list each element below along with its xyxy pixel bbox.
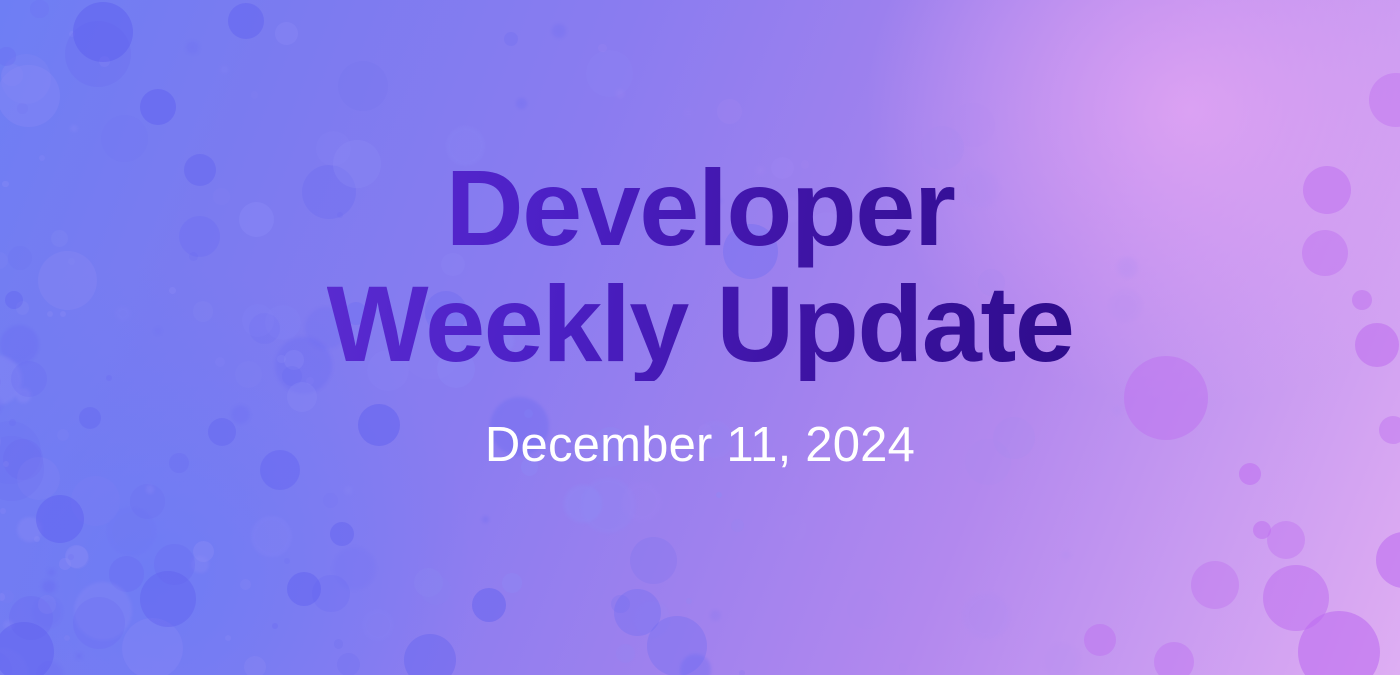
- bokeh-circle: [716, 492, 722, 498]
- bokeh-circle: [0, 590, 14, 604]
- bokeh-circle: [73, 2, 133, 62]
- bokeh-circle: [598, 44, 606, 52]
- bokeh-circle: [74, 582, 132, 640]
- bokeh-circle: [1044, 643, 1081, 675]
- bokeh-circle: [69, 31, 75, 37]
- bokeh-circle: [717, 99, 742, 124]
- issue-date: December 11, 2024: [485, 419, 915, 473]
- bokeh-circle: [312, 575, 350, 613]
- bokeh-circle: [109, 556, 145, 592]
- bokeh-circle: [70, 125, 78, 133]
- bokeh-circle: [686, 598, 692, 604]
- banner-content: Developer Weekly Update December 11, 202…: [0, 150, 1400, 473]
- bokeh-circle: [130, 484, 165, 519]
- bokeh-circle: [330, 522, 354, 546]
- bokeh-circle: [564, 485, 602, 523]
- bokeh-circle: [0, 593, 5, 600]
- bokeh-circle: [3, 620, 13, 630]
- bokeh-circle: [337, 653, 360, 675]
- bokeh-circle: [36, 661, 63, 675]
- bokeh-circle: [0, 622, 54, 675]
- bokeh-circle: [684, 108, 694, 118]
- bokeh-circle: [516, 98, 527, 109]
- bokeh-circle: [1263, 565, 1329, 631]
- bokeh-circle: [404, 634, 456, 675]
- bokeh-circle: [146, 485, 155, 494]
- bokeh-circle: [38, 595, 57, 614]
- bokeh-circle: [99, 56, 111, 68]
- bokeh-circle: [76, 653, 82, 659]
- bokeh-circle: [225, 635, 231, 641]
- bokeh-circle: [1376, 532, 1400, 588]
- bokeh-circle: [240, 579, 250, 589]
- bokeh-circle: [1253, 521, 1271, 539]
- bokeh-circle: [9, 596, 53, 640]
- bokeh-circle: [344, 486, 353, 495]
- bokeh-circle: [779, 515, 807, 543]
- bokeh-circle: [362, 609, 393, 640]
- bokeh-circle: [251, 516, 292, 557]
- bokeh-circle: [1191, 561, 1239, 609]
- bokeh-circle: [66, 546, 88, 568]
- bokeh-circle: [220, 65, 229, 74]
- bokeh-circle: [272, 623, 278, 629]
- bokeh-circle: [616, 644, 635, 663]
- bokeh-circle: [482, 516, 489, 523]
- bokeh-circle: [472, 588, 506, 622]
- bokeh-circle: [64, 635, 70, 641]
- bokeh-circle: [963, 593, 1010, 640]
- bokeh-circle: [191, 556, 209, 574]
- bokeh-circle: [323, 493, 338, 508]
- bokeh-circle: [502, 573, 522, 593]
- bokeh-circle: [275, 22, 298, 45]
- bokeh-circle: [48, 569, 55, 576]
- bokeh-circle: [0, 651, 12, 675]
- bokeh-circle: [731, 519, 744, 532]
- bokeh-circle: [186, 41, 199, 54]
- bokeh-circle: [552, 24, 567, 39]
- bokeh-circle: [59, 558, 71, 570]
- bokeh-circle: [71, 476, 120, 525]
- bokeh-circle: [73, 597, 125, 649]
- page-title: Developer Weekly Update: [327, 150, 1074, 381]
- bokeh-circle: [1298, 611, 1380, 675]
- bokeh-circle: [1154, 642, 1194, 675]
- bokeh-circle: [33, 597, 62, 626]
- bokeh-circle: [228, 3, 264, 39]
- bokeh-circle: [614, 589, 661, 636]
- bokeh-circle: [616, 89, 625, 98]
- bokeh-circle: [414, 568, 443, 597]
- bokeh-circle: [847, 589, 887, 629]
- bokeh-circle: [899, 663, 907, 671]
- bokeh-circle: [17, 103, 28, 114]
- bokeh-circle: [122, 618, 183, 675]
- bokeh-circle: [193, 541, 214, 562]
- bokeh-circle: [1267, 521, 1305, 559]
- bokeh-circle: [42, 580, 56, 594]
- bokeh-circle: [154, 544, 195, 585]
- bokeh-circle: [17, 517, 41, 541]
- bokeh-circle: [0, 648, 28, 675]
- bokeh-circle: [334, 639, 344, 649]
- bokeh-circle: [30, 0, 48, 18]
- bokeh-circle: [647, 616, 708, 675]
- bokeh-circle: [581, 478, 636, 533]
- bokeh-circle: [634, 601, 671, 638]
- bokeh-circle: [338, 61, 388, 111]
- bokeh-circle: [140, 571, 196, 627]
- bokeh-circle: [1062, 551, 1070, 559]
- bokeh-circle: [284, 558, 290, 564]
- bokeh-circle: [950, 103, 995, 148]
- bokeh-circle: [65, 545, 88, 568]
- bokeh-circle: [739, 670, 745, 675]
- bokeh-circle: [0, 65, 60, 127]
- bokeh-circle: [287, 572, 321, 606]
- bokeh-circle: [251, 91, 259, 99]
- bokeh-circle: [68, 554, 74, 560]
- bokeh-circle: [1084, 624, 1116, 656]
- bokeh-circle: [622, 482, 662, 522]
- bokeh-circle: [421, 575, 451, 605]
- bokeh-circle: [792, 476, 800, 484]
- bokeh-circle: [1, 64, 22, 85]
- bokeh-circle: [108, 508, 155, 555]
- newsletter-banner: Developer Weekly Update December 11, 202…: [0, 0, 1400, 675]
- bokeh-circle: [333, 547, 376, 590]
- title-line-2: Weekly Update: [327, 266, 1074, 382]
- bokeh-circle: [1, 54, 51, 104]
- bokeh-circle: [680, 654, 712, 675]
- bokeh-circle: [1369, 73, 1400, 127]
- bokeh-circle: [34, 536, 40, 542]
- bokeh-circle: [586, 50, 632, 96]
- bokeh-circle: [244, 656, 266, 675]
- bokeh-circle: [65, 21, 131, 87]
- bokeh-circle: [36, 495, 84, 543]
- bokeh-circle: [504, 32, 518, 46]
- bokeh-circle: [140, 89, 176, 125]
- bokeh-circle: [0, 508, 6, 514]
- title-line-1: Developer: [327, 150, 1074, 266]
- bokeh-circle: [710, 610, 721, 621]
- bokeh-circle: [630, 537, 678, 585]
- bokeh-circle: [0, 47, 16, 66]
- bokeh-circle: [611, 595, 630, 614]
